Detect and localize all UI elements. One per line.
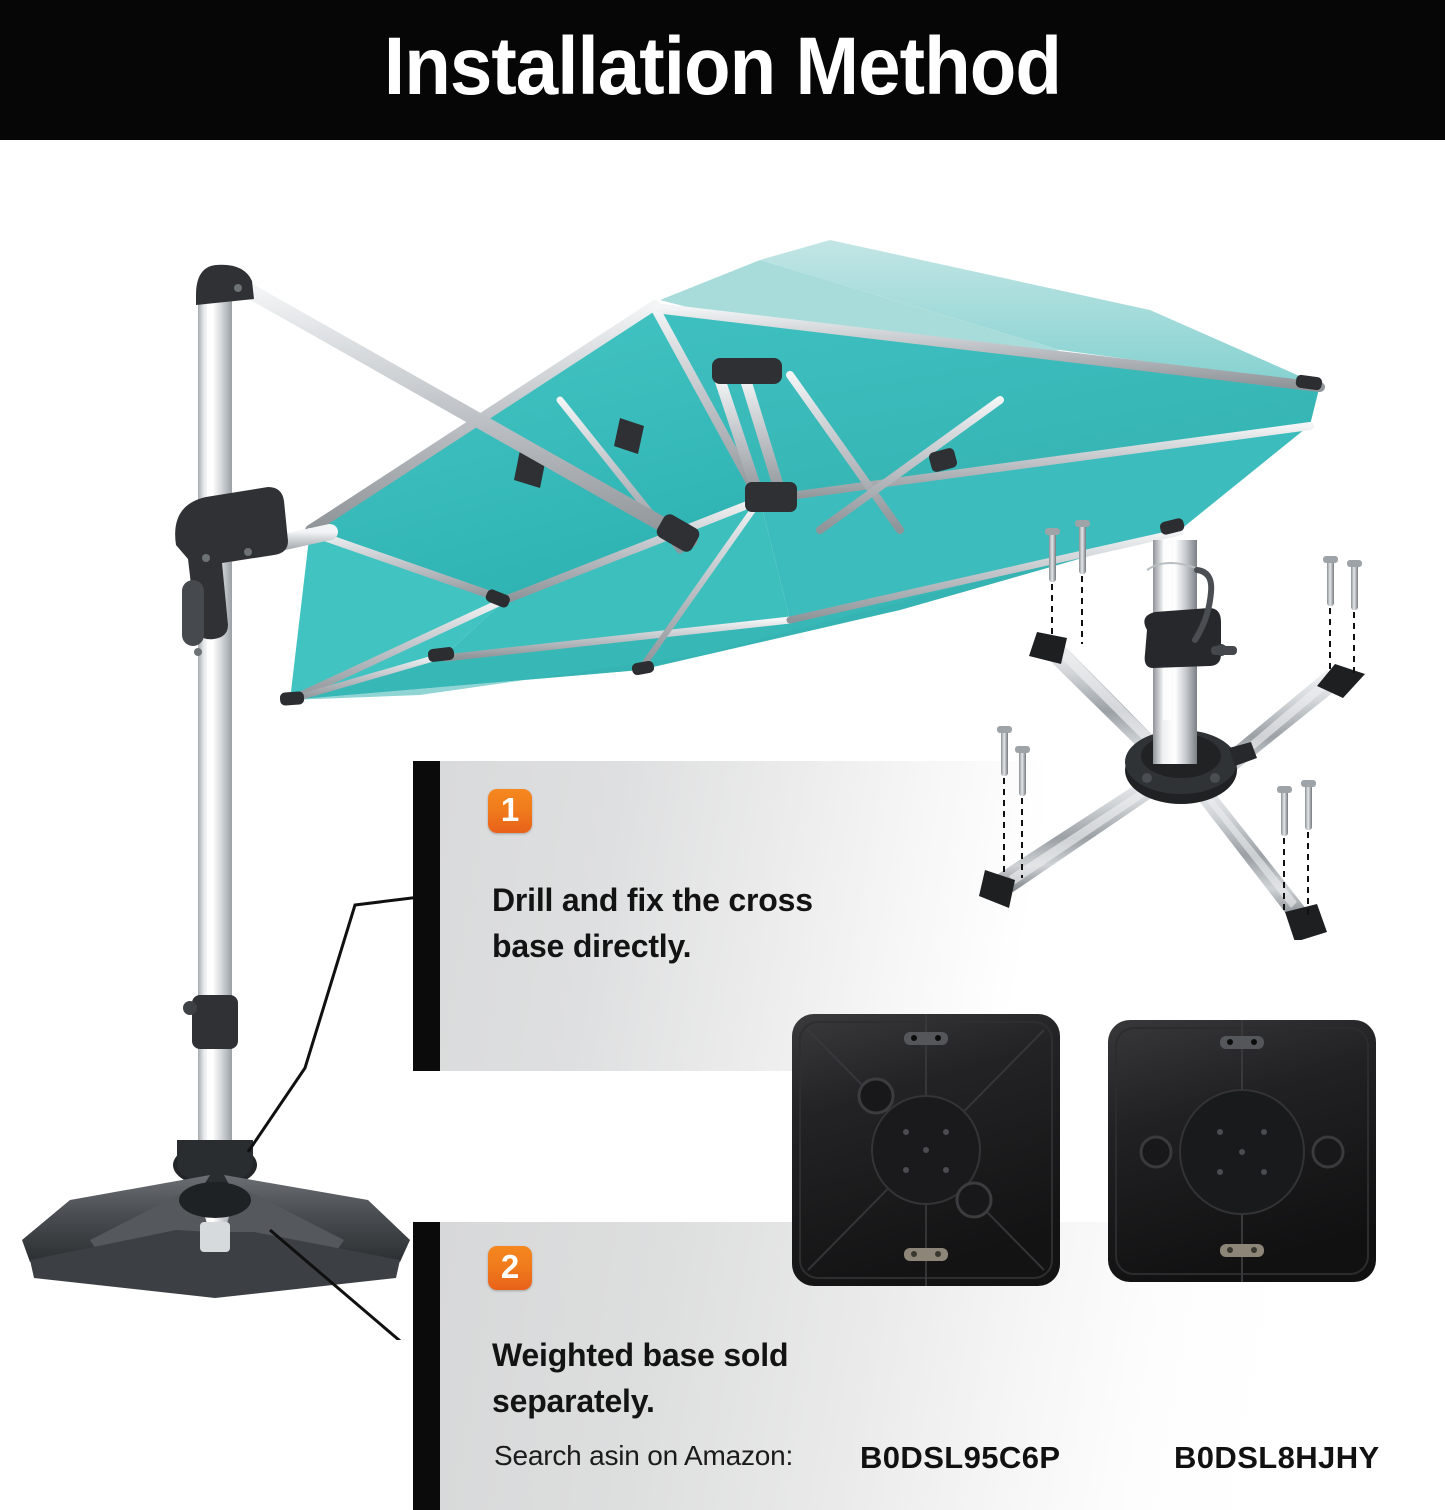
page-title: Installation Method — [51, 0, 1395, 140]
header-band: Installation Method — [0, 0, 1445, 140]
illustration-stage: 1 Drill and fix the cross base directly. — [0, 140, 1445, 1370]
cross-base-detail-illustration — [975, 520, 1405, 940]
asin-row: Search asin on Amazon: B0DSL95C6P B0DSL8… — [440, 1440, 1445, 1484]
step-2-accent-bar — [413, 1222, 440, 1510]
asin-label: Search asin on Amazon: — [494, 1440, 793, 1472]
step-1-text: Drill and fix the cross base directly. — [492, 877, 912, 969]
step-1-accent-bar — [413, 761, 440, 1071]
weighted-base-1 — [792, 1014, 1060, 1286]
weighted-bases-illustration — [778, 1000, 1438, 1300]
step-2-text: Weighted base sold separately. — [492, 1332, 912, 1424]
weighted-base-2 — [1108, 1020, 1376, 1282]
asin-code-2: B0DSL8HJHY — [1174, 1440, 1380, 1476]
step-2-number-badge: 2 — [488, 1246, 532, 1290]
asin-code-1: B0DSL95C6P — [860, 1440, 1060, 1476]
step-1-number-badge: 1 — [488, 789, 532, 833]
